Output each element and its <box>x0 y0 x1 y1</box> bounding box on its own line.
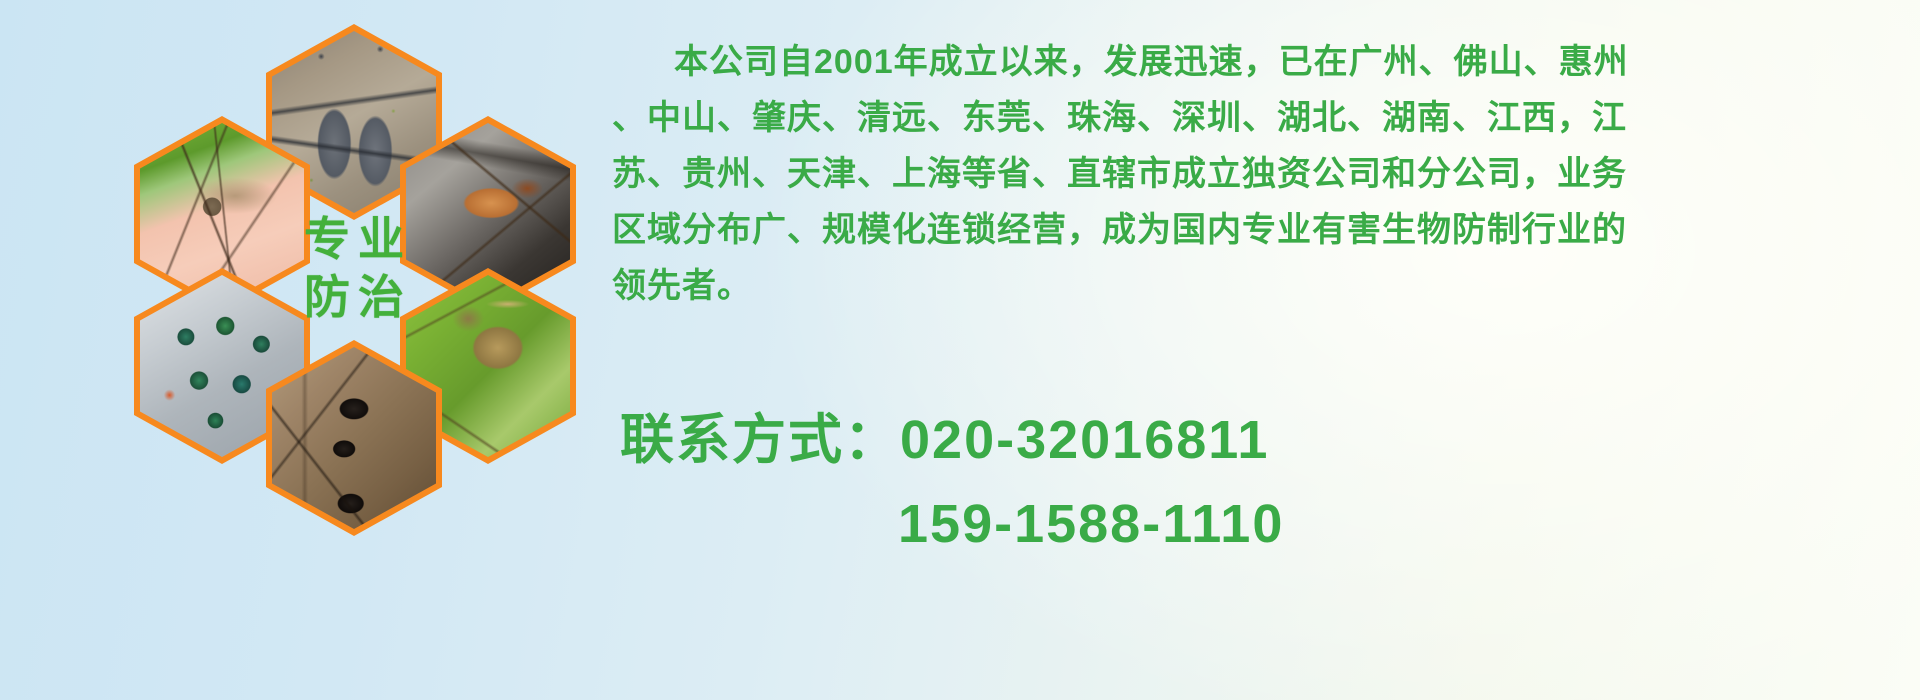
contact-block: 联系方式：020-32016811 159-1588-1110 <box>620 398 1920 566</box>
contact-mobile-line[interactable]: 159-1588-1110 <box>620 482 1920 566</box>
intro-line-3: 苏、贵州、天津、上海等省、直辖市成立独资公司和分公司，业务 <box>612 146 1908 202</box>
intro-line-5: 领先者。 <box>612 258 1908 314</box>
intro-line-4: 区域分布广、规模化连锁经营，成为国内专业有害生物防制行业的 <box>612 202 1908 258</box>
slogan-line-2: 防治 <box>296 273 412 321</box>
company-intro-paragraph: 本公司自2001年成立以来，发展迅速，已在广州、佛山、惠州 、中山、肇庆、清远、… <box>612 34 1908 314</box>
slogan-line-1: 专业 <box>296 215 412 263</box>
intro-line-2: 、中山、肇庆、清远、东莞、珠海、深圳、湖北、湖南、江西，江 <box>612 90 1908 146</box>
hex-inner-ant <box>272 347 436 529</box>
intro-line-1: 本公司自2001年成立以来，发展迅速，已在广州、佛山、惠州 <box>612 34 1908 90</box>
promo-banner: 专业 防治 本公司自2001年成立以来，发展迅速，已在广州、佛山、惠州 、中山、… <box>0 0 1920 700</box>
ant-photo <box>272 347 436 529</box>
contact-landline-line[interactable]: 联系方式：020-32016811 <box>620 398 1920 482</box>
hexagon-photo-cluster: 专业 防治 <box>90 0 590 580</box>
